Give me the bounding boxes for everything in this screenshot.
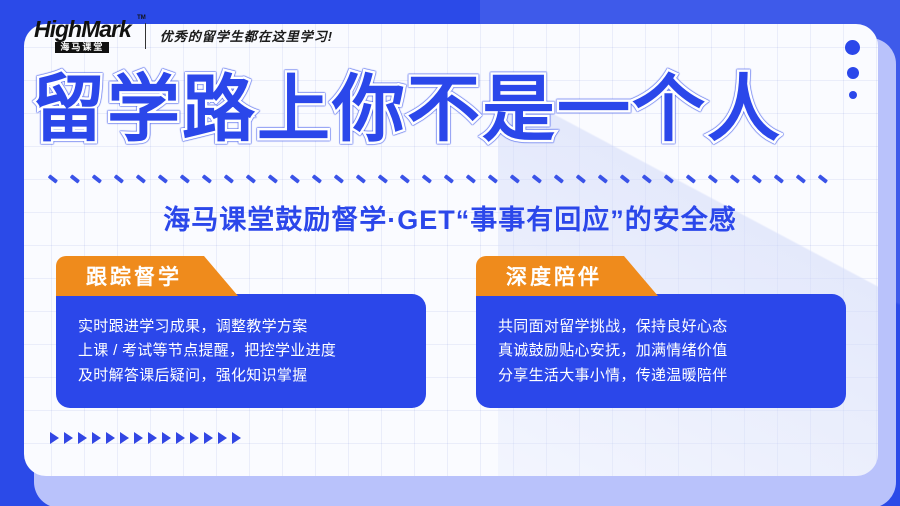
header-divider (145, 23, 146, 49)
slash-dash-icon (462, 174, 484, 190)
triangle-arrow-icon (204, 432, 213, 444)
feature-card-line: 实时跟进学习成果，调整教学方案 (78, 315, 404, 339)
slash-dash-icon (352, 174, 374, 190)
feature-card-group: 跟踪督学实时跟进学习成果，调整教学方案上课 / 考试等节点提醒，把控学业进度及时… (56, 256, 846, 416)
slash-dash-icon (308, 174, 330, 190)
feature-card-line: 分享生活大事小情，传递温暖陪伴 (498, 364, 824, 388)
slash-dash-icon (418, 174, 440, 190)
slash-dash-icon (814, 174, 834, 190)
slash-dash-icon (550, 174, 572, 190)
page-subtitle: 海马课堂鼓励督学·GET“事事有回应”的安全感 (0, 198, 900, 237)
feature-card-line: 真诚鼓励贴心安抚，加满情绪价值 (498, 339, 824, 363)
feature-card-tab: 跟踪督学 (56, 256, 238, 296)
slash-dash-icon (88, 174, 110, 190)
slash-divider-decoration (44, 174, 834, 190)
triangle-arrow-icon (50, 432, 59, 444)
slash-dash-icon (726, 174, 748, 190)
feature-card-line: 上课 / 考试等节点提醒，把控学业进度 (78, 339, 404, 363)
slash-dash-icon (682, 174, 704, 190)
slash-dash-icon (242, 174, 264, 190)
trademark-icon: TM (137, 15, 146, 21)
triangle-arrow-icon (78, 432, 87, 444)
slash-dash-icon (704, 174, 726, 190)
slash-dash-icon (792, 174, 814, 190)
slash-dash-icon (506, 174, 528, 190)
feature-card: 深度陪伴共同面对留学挑战，保持良好心态真诚鼓励贴心安抚，加满情绪价值分享生活大事… (476, 256, 846, 416)
triangle-arrow-icon (106, 432, 115, 444)
slash-dash-icon (132, 174, 154, 190)
slash-dash-icon (286, 174, 308, 190)
logo: HighMark TM 海马课堂 (34, 18, 131, 53)
slash-dash-icon (110, 174, 132, 190)
brand-tagline: 优秀的留学生都在这里学习! (160, 26, 333, 45)
triangle-arrow-icon (148, 432, 157, 444)
slash-dash-icon (616, 174, 638, 190)
slash-dash-icon (66, 174, 88, 190)
feature-card-line: 及时解答课后疑问，强化知识掌握 (78, 364, 404, 388)
slash-dash-icon (264, 174, 286, 190)
feature-card-tab: 深度陪伴 (476, 256, 658, 296)
slash-dash-icon (154, 174, 176, 190)
triangle-arrow-icon (232, 432, 241, 444)
slash-dash-icon (528, 174, 550, 190)
slash-dash-icon (176, 174, 198, 190)
feature-card-tab-label: 跟踪督学 (86, 261, 182, 291)
slash-dash-icon (770, 174, 792, 190)
triangle-arrow-icon (64, 432, 73, 444)
slash-dash-icon (440, 174, 462, 190)
slash-dash-icon (396, 174, 418, 190)
logo-wordmark: HighMark TM (34, 18, 131, 41)
logo-chinese-name: 海马课堂 (55, 42, 109, 53)
poster-canvas: HighMark TM 海马课堂 优秀的留学生都在这里学习! 留学路上你不是一个… (0, 0, 900, 506)
triangle-arrow-icon (176, 432, 185, 444)
slash-dash-icon (594, 174, 616, 190)
triangle-arrow-icon (120, 432, 129, 444)
triangle-arrow-icon (92, 432, 101, 444)
slash-dash-icon (220, 174, 242, 190)
slash-dash-icon (660, 174, 682, 190)
slash-dash-icon (44, 174, 66, 190)
logo-wordmark-text: HighMark (34, 16, 131, 42)
circle-dot-icon (845, 40, 860, 55)
triangle-arrow-icon (218, 432, 227, 444)
slash-dash-icon (748, 174, 770, 190)
feature-card: 跟踪督学实时跟进学习成果，调整教学方案上课 / 考试等节点提醒，把控学业进度及时… (56, 256, 426, 416)
feature-card-tab-label: 深度陪伴 (506, 261, 602, 291)
triangle-arrow-icon (134, 432, 143, 444)
slash-dash-icon (638, 174, 660, 190)
slash-dash-icon (330, 174, 352, 190)
feature-card-body: 实时跟进学习成果，调整教学方案上课 / 考试等节点提醒，把控学业进度及时解答课后… (56, 294, 426, 408)
page-title: 留学路上你不是一个人 (32, 72, 852, 149)
brand-header: HighMark TM 海马课堂 优秀的留学生都在这里学习! (34, 18, 333, 53)
feature-card-body: 共同面对留学挑战，保持良好心态真诚鼓励贴心安抚，加满情绪价值分享生活大事小情，传… (476, 294, 846, 408)
triangle-arrow-icon (162, 432, 171, 444)
slash-dash-icon (484, 174, 506, 190)
slash-dash-icon (198, 174, 220, 190)
slash-dash-icon (374, 174, 396, 190)
slash-dash-icon (572, 174, 594, 190)
feature-card-line: 共同面对留学挑战，保持良好心态 (498, 315, 824, 339)
arrow-decoration-group (50, 432, 241, 444)
triangle-arrow-icon (190, 432, 199, 444)
